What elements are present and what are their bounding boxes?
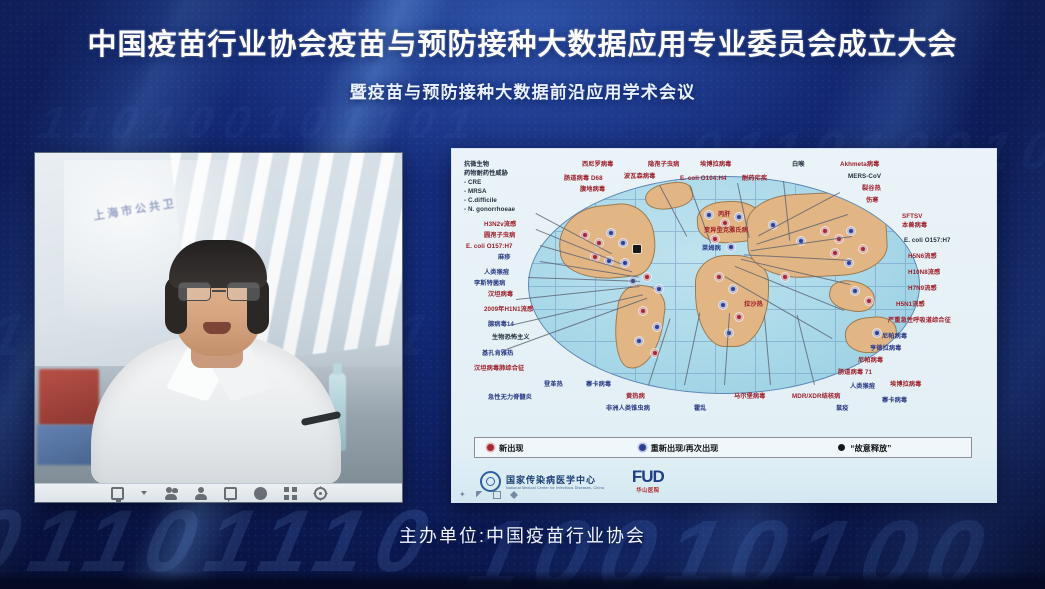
video-feed-panel[interactable]: 上海市公共卫 bbox=[34, 152, 403, 503]
map-label: H5N1流感 bbox=[896, 301, 925, 309]
map-label: 耐药疟疾 bbox=[742, 175, 767, 183]
legend-marker-blue-icon bbox=[639, 444, 646, 451]
map-label: 埃博拉病毒 bbox=[890, 381, 921, 389]
map-label: 肠道病毒 D68 bbox=[564, 175, 603, 183]
legend-item-deliberate: “故意释放” bbox=[838, 442, 891, 454]
map-label: SFTSV bbox=[902, 213, 922, 221]
map-marker bbox=[781, 273, 789, 281]
map-label: 鼠疫 bbox=[836, 405, 849, 413]
map-label: 伤寒 bbox=[866, 197, 879, 205]
map-label: 本兽病毒 bbox=[902, 222, 927, 230]
logo-text-huashan: 华山医院 bbox=[632, 486, 664, 494]
annotation-shape-icon[interactable] bbox=[510, 491, 518, 499]
speaker-hair bbox=[169, 240, 267, 288]
desk-object-red bbox=[39, 369, 99, 425]
map-label: H10N8流感 bbox=[908, 269, 940, 277]
map-label: 莱姆病 bbox=[702, 245, 721, 253]
map-marker bbox=[705, 211, 713, 219]
map-label: 人类猴痘 bbox=[850, 383, 875, 391]
map-label: 药物耐药性威胁 bbox=[464, 170, 508, 178]
map-label: 隐孢子虫病 bbox=[648, 161, 679, 169]
title-block: 中国疫苗行业协会疫苗与预防接种大数据应用专业委员会成立大会 暨疫苗与预防接种大数… bbox=[0, 28, 1045, 103]
map-label: MERS-CoV bbox=[848, 173, 881, 181]
share-screen-icon[interactable] bbox=[111, 487, 124, 500]
map-label: 腹地病毒 bbox=[580, 186, 605, 194]
settings-gear-icon[interactable] bbox=[314, 487, 327, 500]
map-marker bbox=[727, 243, 735, 251]
apps-icon[interactable] bbox=[284, 487, 297, 500]
map-label: 李斯特菌病 bbox=[474, 280, 505, 288]
legend-label: “故意释放” bbox=[850, 442, 891, 454]
map-label: 马尔堡病毒 bbox=[734, 393, 765, 401]
map-marker bbox=[715, 273, 723, 281]
map-label: E. coli O157:H7 bbox=[904, 237, 951, 245]
annotation-pen-icon[interactable] bbox=[476, 491, 484, 499]
map-label: 麻疹 bbox=[498, 254, 511, 262]
map-marker bbox=[865, 297, 873, 305]
map-marker bbox=[729, 285, 737, 293]
map-marker-deliberate bbox=[633, 245, 641, 253]
map-marker bbox=[735, 313, 743, 321]
map-label: 变异型克雅氏病 bbox=[704, 227, 748, 235]
logo-huashan: FUD 华山医院 bbox=[632, 468, 664, 494]
speaker-mouth bbox=[203, 322, 231, 334]
map-label: E. coli O157:H7 bbox=[466, 243, 513, 251]
map-label: 2009年H1N1流感 bbox=[484, 306, 533, 314]
map-marker bbox=[653, 323, 661, 331]
speaker-person bbox=[91, 224, 341, 484]
map-label: 急性无力脊髓炎 bbox=[488, 394, 532, 402]
map-marker bbox=[621, 259, 629, 267]
legend-marker-red-icon bbox=[487, 444, 494, 451]
map-label: 抗微生物 bbox=[464, 161, 489, 169]
map-label: - C.difficile bbox=[464, 197, 497, 205]
legend-marker-black-icon bbox=[838, 444, 845, 451]
map-marker bbox=[607, 229, 615, 237]
map-label: 人类猴痘 bbox=[484, 269, 509, 277]
map-label: 肠道病毒 71 bbox=[838, 369, 872, 377]
map-marker bbox=[719, 301, 727, 309]
slide-footer: 国家传染病医学中心 National Medical Center for In… bbox=[452, 460, 996, 502]
logo-text-cn: 国家传染病医学中心 bbox=[506, 473, 604, 486]
legend-label: 新出现 bbox=[499, 442, 524, 454]
map-marker bbox=[643, 273, 651, 281]
map-marker bbox=[635, 337, 643, 345]
map-marker bbox=[655, 285, 663, 293]
chevron-down-icon[interactable] bbox=[141, 491, 147, 495]
map-label: MDR/XDR结核病 bbox=[792, 393, 840, 401]
map-label: 尼帕病毒 bbox=[882, 333, 907, 341]
map-label: Akhmeta病毒 bbox=[840, 161, 879, 169]
map-label: E. coli O104:H4 bbox=[680, 175, 727, 183]
map-label: 非洲人类锥虫病 bbox=[606, 405, 650, 413]
map-label: 汉坦病毒 bbox=[488, 291, 513, 299]
map-label: 丙肝 bbox=[718, 211, 731, 219]
map-label: 西尼罗病毒 bbox=[582, 161, 613, 169]
map-label: 尼帕病毒 bbox=[858, 357, 883, 365]
map-label: - CRE bbox=[464, 179, 481, 187]
map-label: 寨卡病毒 bbox=[586, 381, 611, 389]
map-label: - MRSA bbox=[464, 188, 487, 196]
map-marker bbox=[821, 227, 829, 235]
bottom-shadow-band bbox=[0, 571, 1045, 589]
map-label: 严重急性呼吸道综合征 bbox=[888, 317, 951, 325]
map-marker bbox=[851, 287, 859, 295]
map-label: 圆孢子虫病 bbox=[484, 232, 515, 240]
page-title: 中国疫苗行业协会疫苗与预防接种大数据应用专业委员会成立大会 bbox=[0, 28, 1045, 62]
map-marker bbox=[847, 227, 855, 235]
map-label: 登革热 bbox=[544, 381, 563, 389]
map-marker bbox=[711, 235, 719, 243]
map-legend: 新出现 重新出现/再次出现 “故意释放” bbox=[474, 437, 972, 458]
lens-left bbox=[178, 282, 211, 301]
legend-item-reemerging: 重新出现/再次出现 bbox=[639, 442, 719, 454]
record-icon[interactable] bbox=[254, 487, 267, 500]
map-label: 裂谷热 bbox=[862, 185, 881, 193]
chat-icon[interactable] bbox=[224, 487, 237, 500]
legend-label: 重新出现/再次出现 bbox=[651, 442, 719, 454]
map-marker bbox=[859, 245, 867, 253]
map-label: 基孔肯雅热 bbox=[482, 350, 513, 358]
map-label: 黄热病 bbox=[626, 393, 645, 401]
map-label: H7N9流感 bbox=[908, 285, 937, 293]
map-marker bbox=[721, 219, 729, 227]
slide-annotation-toolbar[interactable]: ✦ bbox=[452, 488, 525, 502]
map-label: 白喉 bbox=[792, 161, 805, 169]
lens-right bbox=[227, 282, 260, 301]
map-label: 埃博拉病毒 bbox=[700, 161, 731, 169]
map-label: H5N6流感 bbox=[908, 253, 937, 261]
map-label: 生物恐怖主义 bbox=[492, 334, 530, 342]
legend-item-new: 新出现 bbox=[487, 442, 524, 454]
huashan-mark-icon: FUD bbox=[632, 468, 664, 485]
participant-icon[interactable] bbox=[194, 487, 207, 500]
annotation-note-icon[interactable] bbox=[493, 491, 501, 499]
map-marker bbox=[873, 329, 881, 337]
map-marker bbox=[725, 329, 733, 337]
map-marker bbox=[639, 307, 647, 315]
presentation-slide[interactable]: 抗微生物 药物耐药性威胁 - CRE - MRSA - C.difficile … bbox=[451, 148, 997, 503]
map-label: - N. gonorrhoeae bbox=[464, 206, 515, 214]
map-marker bbox=[831, 249, 839, 257]
map-label: H3N2v流感 bbox=[484, 221, 516, 229]
world-map-chart: 抗微生物 药物耐药性威胁 - CRE - MRSA - C.difficile … bbox=[452, 149, 996, 421]
map-label: 汉坦病毒肺综合征 bbox=[474, 365, 524, 373]
map-label: 霍乱 bbox=[694, 405, 707, 413]
annotation-star-icon[interactable]: ✦ bbox=[459, 491, 467, 499]
map-label: 腺病毒14 bbox=[488, 321, 514, 329]
meeting-toolbar[interactable] bbox=[35, 483, 402, 502]
page-subtitle: 暨疫苗与预防接种大数据前沿应用学术会议 bbox=[0, 78, 1045, 103]
map-marker bbox=[735, 213, 743, 221]
lens-bridge bbox=[212, 290, 226, 292]
host-organization-line: 主办单位:中国疫苗行业协会 bbox=[0, 522, 1045, 548]
eyeglasses-icon bbox=[177, 282, 261, 302]
map-label: 拉沙热 bbox=[744, 301, 763, 309]
map-label: 寨卡病毒 bbox=[882, 397, 907, 405]
map-label: 波瓦森病毒 bbox=[624, 173, 655, 181]
map-label: 亨德拉病毒 bbox=[870, 345, 901, 353]
manage-participants-icon[interactable] bbox=[164, 487, 177, 500]
map-marker bbox=[619, 239, 627, 247]
